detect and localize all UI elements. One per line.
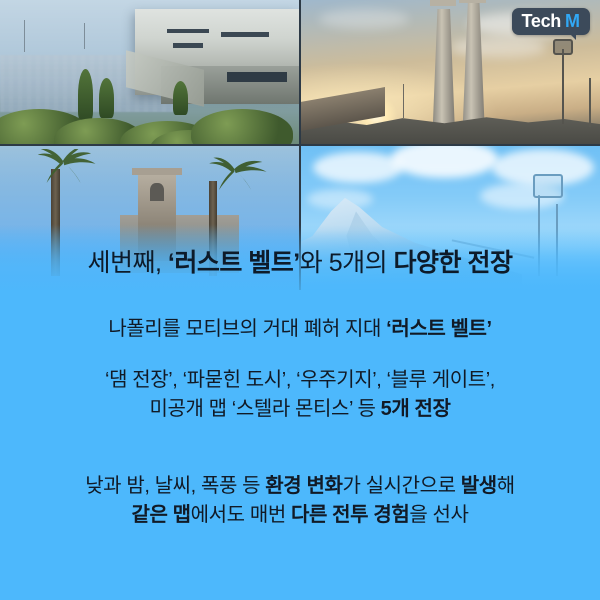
- block-c-line2-a-bold: 같은 맵: [132, 504, 191, 526]
- cloud: [391, 146, 499, 178]
- tower-cap: [430, 0, 457, 6]
- building-window: [173, 43, 203, 47]
- cypress-tree: [173, 81, 188, 116]
- block-c-line1-e: 해: [497, 475, 515, 497]
- radio-tower-top: [533, 174, 563, 198]
- mast-pole: [562, 49, 564, 124]
- body-line: ‘댐 전장’, ‘파묻힌 도시’, ‘우주기지’, ‘블루 게이트’,: [0, 366, 600, 395]
- palm-fronds: [167, 155, 299, 204]
- page-title: 세번째, ‘러스트 벨트’와 5개의 다양한 전장: [0, 249, 600, 278]
- block-b-line2-bold: 5개 전장: [381, 398, 451, 420]
- body-line: 낮과 밤, 날씨, 폭풍 등 환경 변화가 실시간으로 발생해: [0, 472, 600, 501]
- body-line: 같은 맵에서도 매번 다른 전투 경험을 선사: [0, 501, 600, 530]
- cypress-tree: [78, 69, 93, 121]
- block-c-line1-a: 낮과 밤, 날씨, 폭풍 등: [85, 475, 265, 497]
- headline-part-3: 와 5개의: [300, 249, 394, 277]
- cloud: [319, 9, 409, 29]
- cooling-tower: [433, 9, 455, 133]
- headline-part-4-bold: 다양한 전장: [394, 249, 513, 277]
- utility-pole: [84, 23, 85, 49]
- building-window: [221, 32, 269, 38]
- cloud: [451, 37, 547, 57]
- tower-arch-window: [150, 183, 165, 200]
- promo-card: Tech M 세번째, ‘러스트 벨트’와 5개의 다양한 전장 나폴리를 모티…: [0, 0, 600, 600]
- block-c-line2-b: 에서도 매번: [191, 504, 291, 526]
- palm-fronds: [6, 149, 144, 201]
- block-b-line2-plain: 미공개 맵 ‘스텔라 몬티스’ 등: [149, 398, 380, 420]
- image-collage: [0, 0, 600, 290]
- logo-text-m: M: [565, 12, 580, 30]
- body-block-a: 나폴리를 모티브의 거대 폐허 지대 ‘러스트 벨트’: [0, 315, 600, 344]
- body-block-c: 낮과 밤, 날씨, 폭풍 등 환경 변화가 실시간으로 발생해 같은 맵에서도 …: [0, 472, 600, 530]
- block-c-line2-c-bold: 다른 전투 경험: [291, 504, 409, 526]
- utility-pole: [24, 20, 25, 52]
- tech-m-logo[interactable]: Tech M: [512, 8, 590, 35]
- tower-cap: [459, 0, 486, 3]
- body-line: 미공개 맵 ‘스텔라 몬티스’ 등 5개 전장: [0, 395, 600, 424]
- collage-tile-ruined-concrete-city: [0, 0, 299, 144]
- block-c-line2-d: 을 선사: [409, 504, 468, 526]
- block-b-line1: ‘댐 전장’, ‘파묻힌 도시’, ‘우주기지’, ‘블루 게이트’,: [105, 369, 495, 391]
- headline-part-2-bold: ‘러스트 벨트’: [168, 249, 300, 277]
- block-c-line1-d-bold: 발생: [461, 475, 497, 497]
- block-c-line1-c: 가 실시간으로: [342, 475, 460, 497]
- headline-part-1: 세번째,: [88, 249, 168, 277]
- block-a-line1-bold: ‘러스트 벨트’: [386, 318, 491, 340]
- cypress-tree: [99, 78, 114, 118]
- body-block-b: ‘댐 전장’, ‘파묻힌 도시’, ‘우주기지’, ‘블루 게이트’, 미공개 …: [0, 366, 600, 424]
- mast-lamp: [553, 39, 573, 55]
- antenna-pole: [403, 84, 404, 119]
- building-window: [227, 72, 287, 82]
- cloud: [313, 152, 403, 184]
- block-a-line1-plain: 나폴리를 모티브의 거대 폐허 지대: [108, 318, 386, 340]
- block-c-line1-b-bold: 환경 변화: [265, 475, 342, 497]
- mast-pole: [589, 78, 591, 127]
- logo-text-tech: Tech: [522, 12, 561, 30]
- building-window: [167, 29, 209, 33]
- body-line: 나폴리를 모티브의 거대 폐허 지대 ‘러스트 벨트’: [0, 315, 600, 344]
